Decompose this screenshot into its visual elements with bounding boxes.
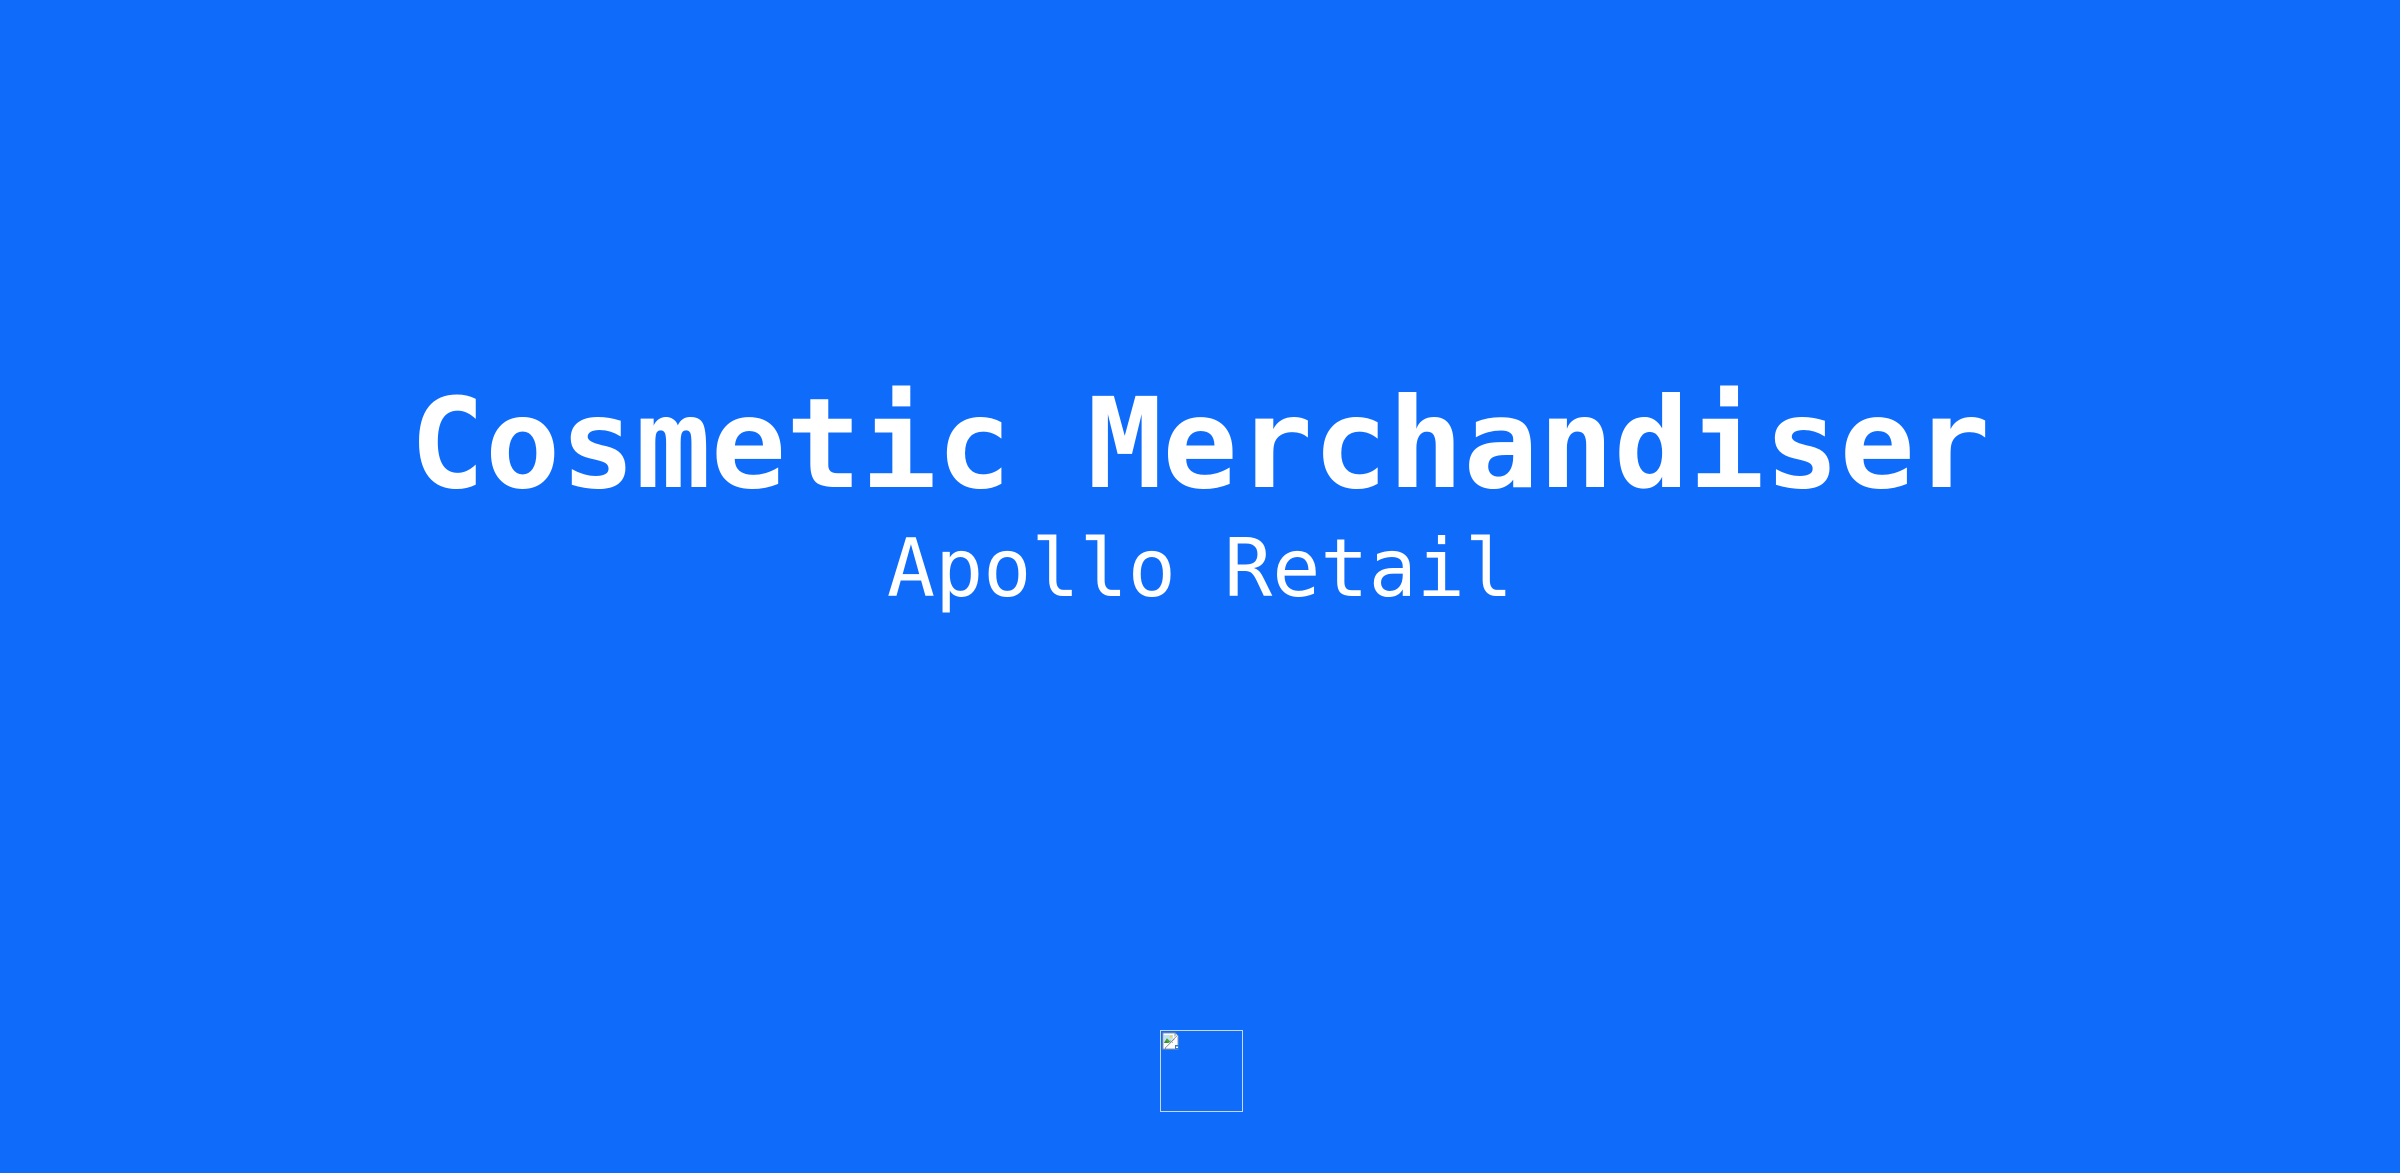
broken-image-frame[interactable] [1160,1030,1243,1112]
broken-image-icon [1162,1032,1180,1050]
page-subtitle: Apollo Retail [0,507,2400,609]
title-block: Cosmetic Merchandiser Apollo Retail [0,0,2400,609]
image-placeholder[interactable] [1160,1030,1243,1112]
page-title: Cosmetic Merchandiser [0,382,2400,507]
title-slide: Cosmetic Merchandiser Apollo Retail [0,0,2400,1173]
